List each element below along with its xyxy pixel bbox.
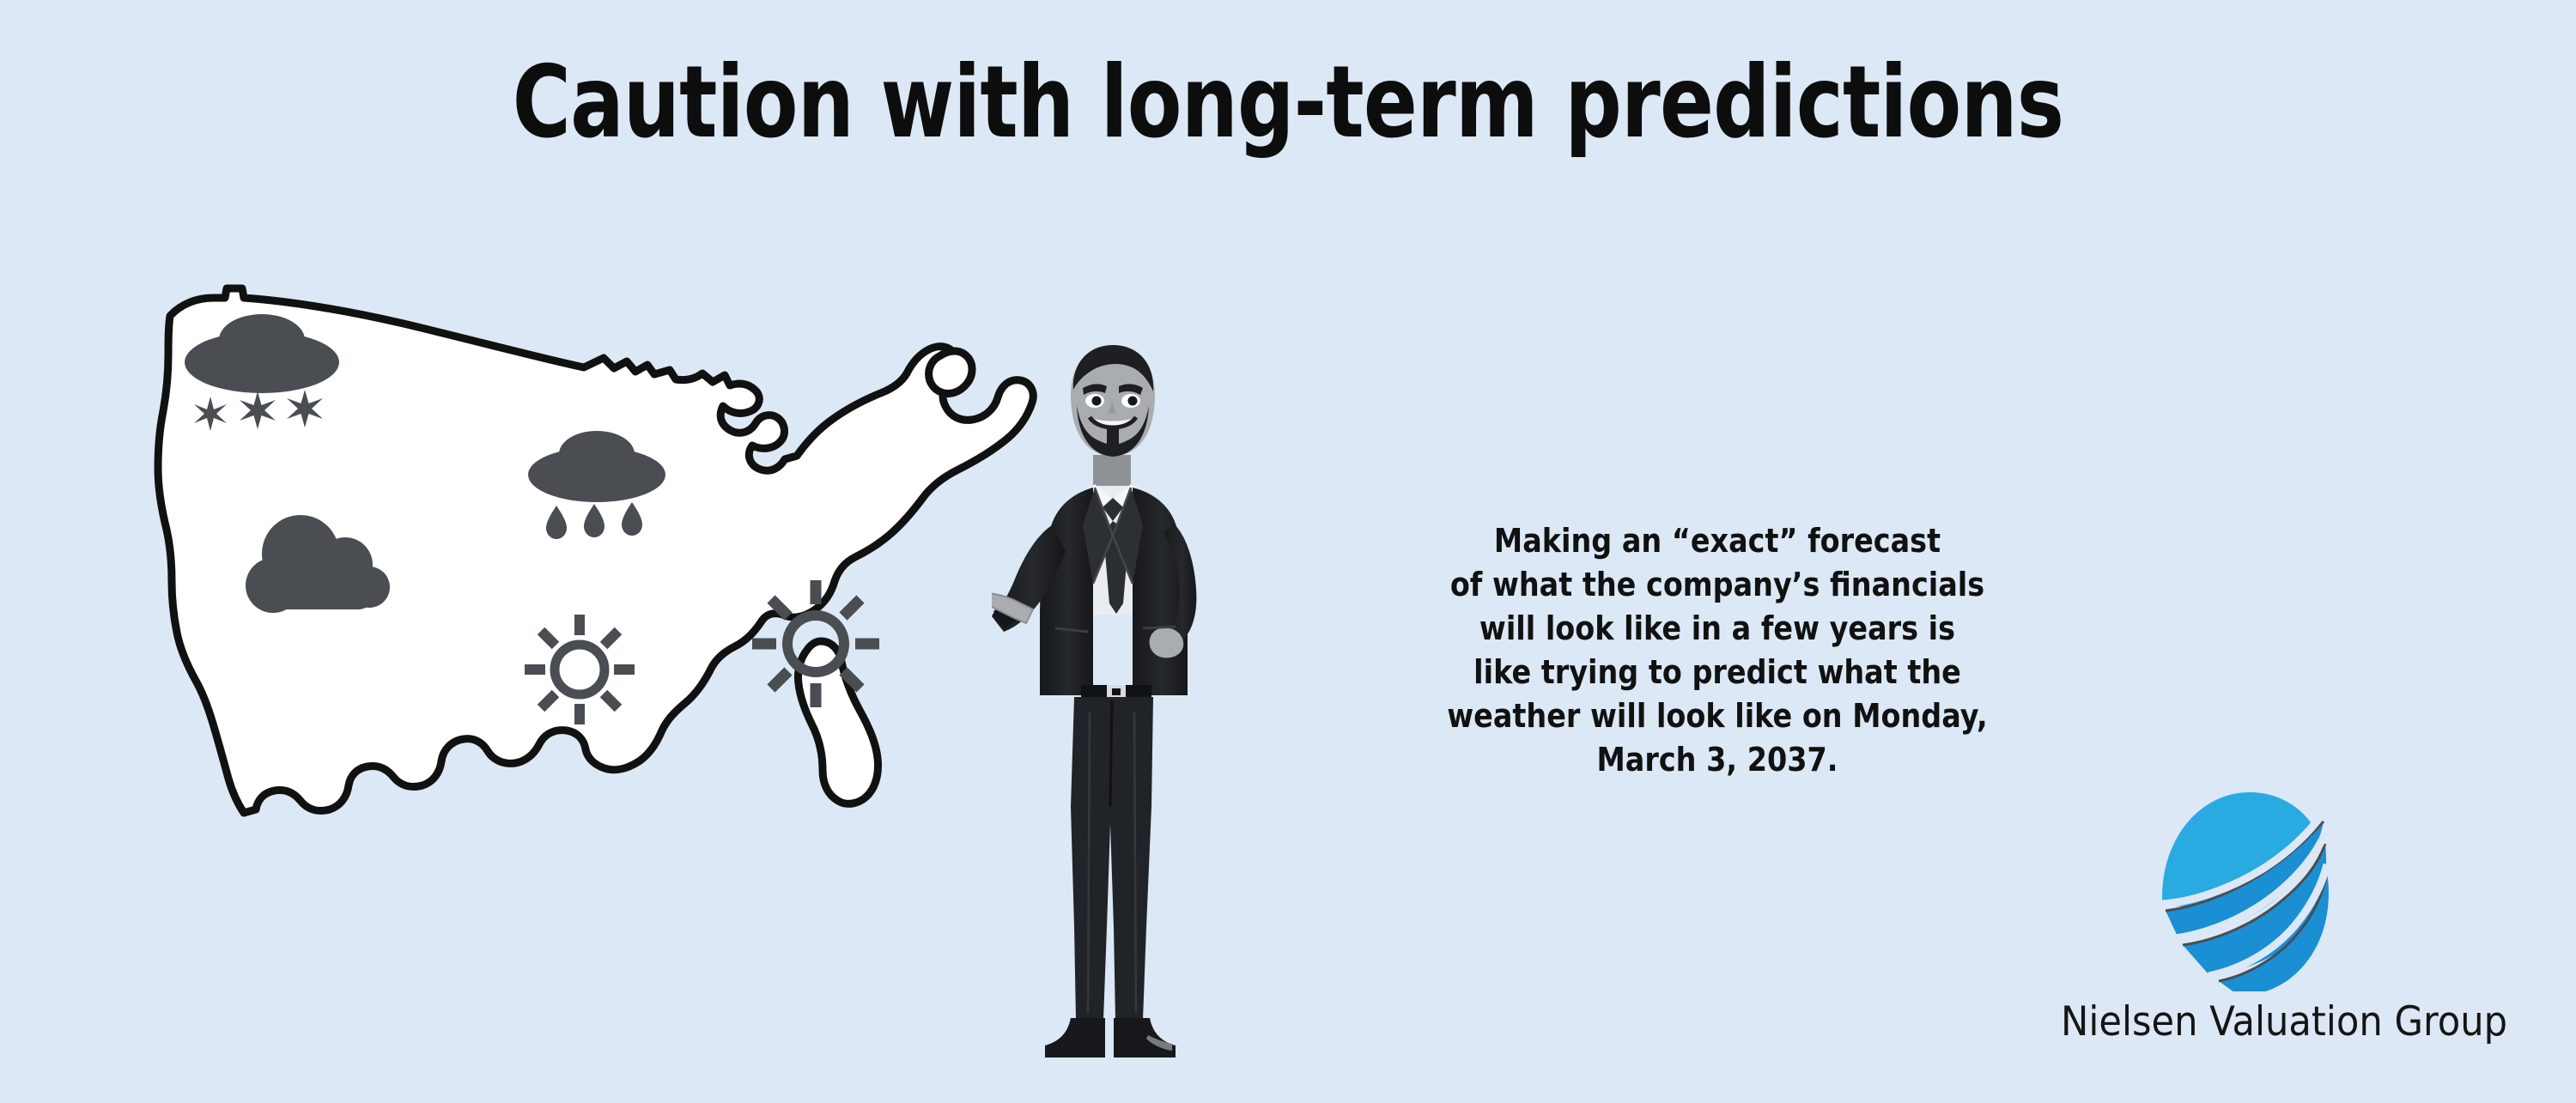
company-name: Nielsen Valuation Group (2061, 998, 2488, 1045)
quote-text: Making an “exact” forecast of what the c… (1431, 519, 2005, 781)
slide-canvas: Caution with long-term predictions (0, 0, 2576, 1103)
businessman-illustration (992, 326, 1275, 1073)
quote-line: will look like in a few years is (1431, 607, 2005, 651)
company-logo: Nielsen Valuation Group (2061, 785, 2524, 1077)
sun-icon (747, 575, 884, 712)
sun-icon (519, 609, 640, 730)
quote-line: weather will look like on Monday, (1431, 694, 2005, 738)
globe-swoosh-logo-icon (2155, 785, 2336, 991)
cloud-icon (240, 515, 395, 622)
snow-cloud-icon (180, 309, 343, 433)
rain-cloud-icon (524, 425, 670, 545)
quote-line: like trying to predict what the (1431, 651, 2005, 694)
quote-line: March 3, 2037. (1431, 738, 2005, 782)
quote-line: Making an “exact” forecast (1431, 519, 2005, 563)
weather-map (129, 253, 1099, 854)
quote-line: of what the company’s financials (1431, 563, 2005, 607)
page-title: Caution with long-term predictions (258, 53, 2318, 153)
